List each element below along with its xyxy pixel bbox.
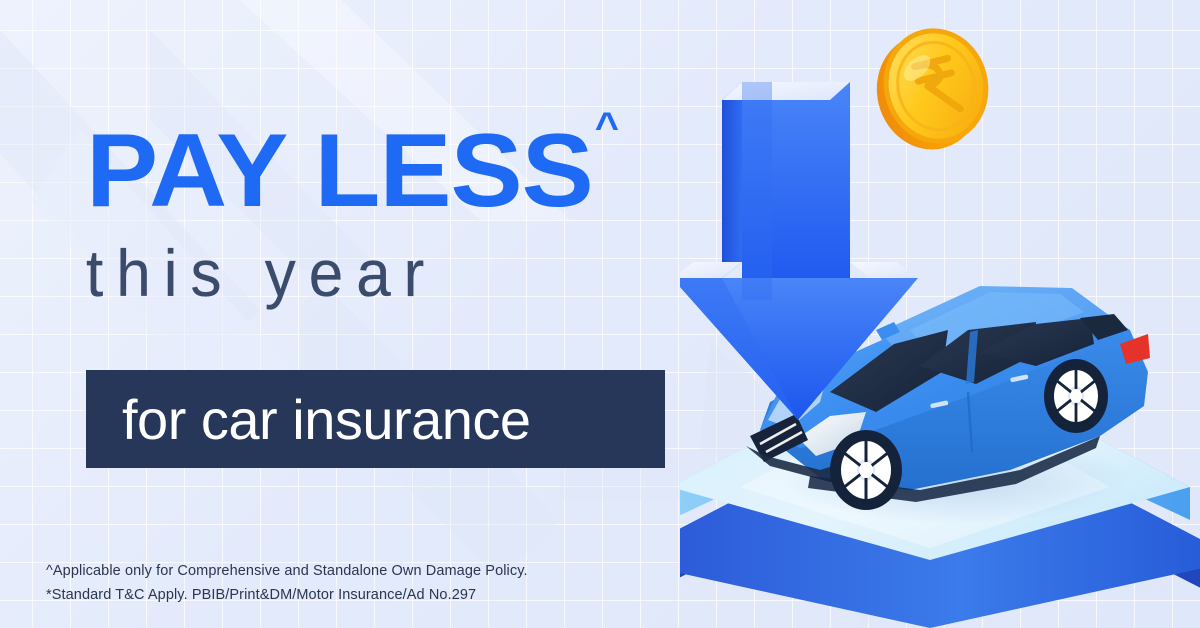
disclaimer-line-1: ^Applicable only for Comprehensive and S… — [46, 560, 528, 584]
page-title: PAY LESS^ — [86, 122, 752, 222]
car-rear-wheel — [1044, 359, 1108, 433]
gold-coin-icon — [864, 17, 1002, 161]
headline-superscript-caret: ^ — [595, 105, 619, 149]
insurance-promo-banner: PAY LESS^ this year for car insurance ^A… — [0, 0, 1200, 628]
highlight-band-label: for car insurance — [86, 387, 531, 452]
highlight-band: for car insurance — [86, 370, 665, 468]
subtitle: this year — [86, 242, 726, 308]
disclaimer-line-2: *Standard T&C Apply. PBIB/Print&DM/Motor… — [46, 584, 528, 608]
artwork — [680, 0, 1200, 628]
copy-block: PAY LESS^ this year for car insurance — [86, 122, 726, 304]
headline-text: PAY LESS — [86, 113, 593, 229]
disclaimer: ^Applicable only for Comprehensive and S… — [46, 560, 528, 608]
car-front-wheel — [830, 430, 902, 510]
